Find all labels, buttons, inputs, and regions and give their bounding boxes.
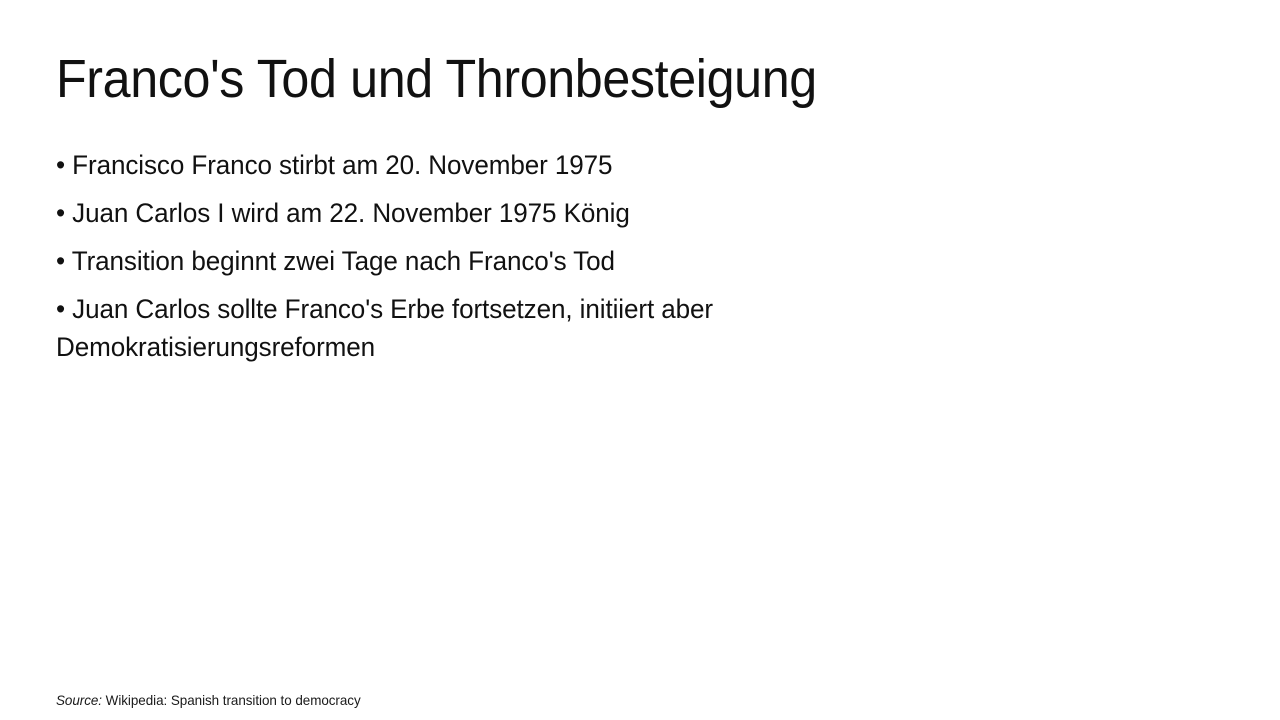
list-item: • Transition beginnt zwei Tage nach Fran… <box>56 242 1031 280</box>
bullet-list: • Francisco Franco stirbt am 20. Novembe… <box>56 146 1066 366</box>
bullet-point-icon: • <box>56 198 72 228</box>
list-item-text: Juan Carlos I wird am 22. November 1975 … <box>72 198 630 228</box>
source-label: Source: <box>56 692 102 708</box>
list-item: • Francisco Franco stirbt am 20. Novembe… <box>56 146 1031 184</box>
list-item: • Juan Carlos I wird am 22. November 197… <box>56 194 1031 232</box>
source-citation: Source: Wikipedia: Spanish transition to… <box>56 691 361 710</box>
bullet-point-icon: • <box>56 246 72 276</box>
bullet-point-icon: • <box>56 294 72 324</box>
source-value: Wikipedia: Spanish transition to democra… <box>102 692 361 708</box>
presentation-slide: Franco's Tod und Thronbesteigung • Franc… <box>0 0 1280 720</box>
list-item-text: Transition beginnt zwei Tage nach Franco… <box>72 246 615 276</box>
list-item-text: Francisco Franco stirbt am 20. November … <box>72 150 612 180</box>
page-title: Franco's Tod und Thronbesteigung <box>56 48 1153 110</box>
list-item: • Juan Carlos sollte Franco's Erbe forts… <box>56 290 1031 366</box>
bullet-point-icon: • <box>56 150 72 180</box>
list-item-text: Juan Carlos sollte Franco's Erbe fortset… <box>56 294 713 362</box>
